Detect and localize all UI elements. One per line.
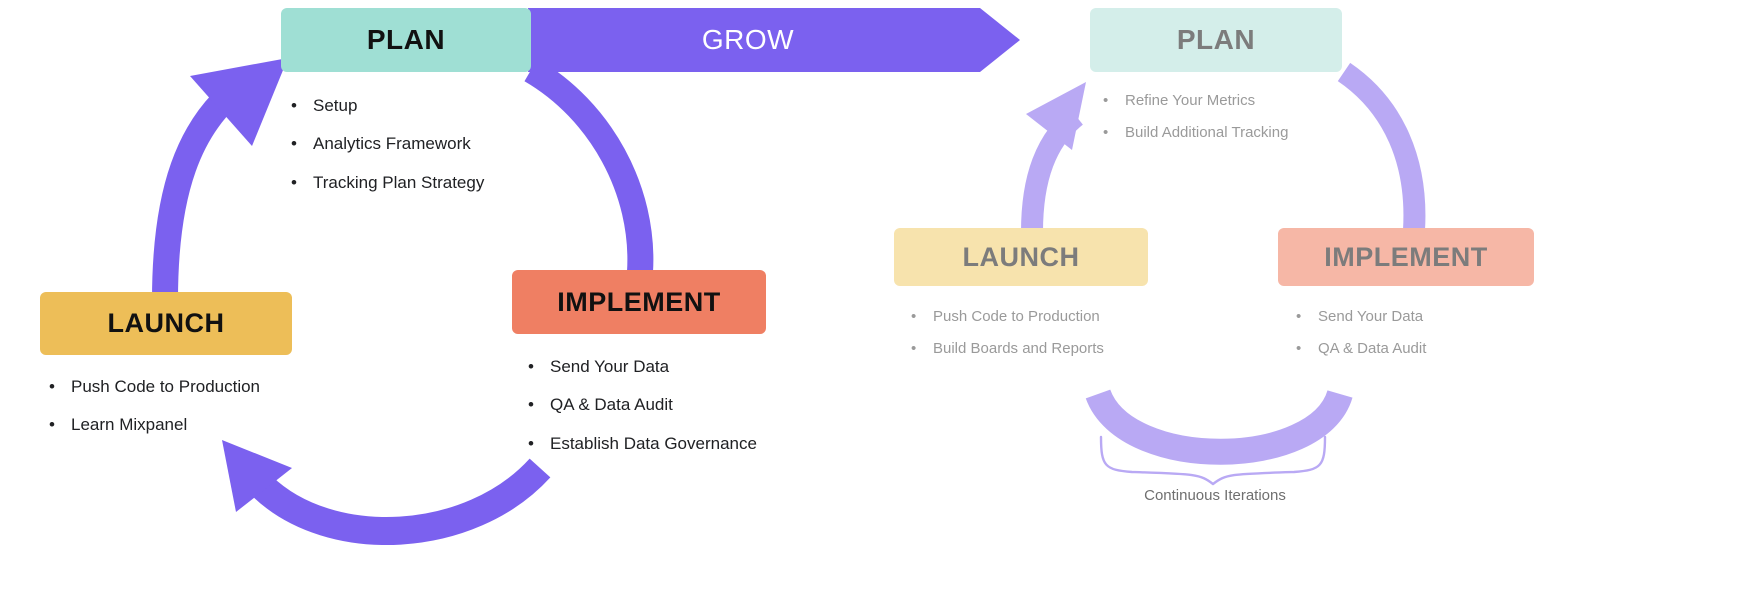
continuous-iterations-brace bbox=[1101, 437, 1325, 484]
bullet-label: Setup bbox=[313, 96, 357, 116]
bullet-icon: • bbox=[291, 96, 313, 116]
bullet-label: QA & Data Audit bbox=[1318, 340, 1426, 358]
bullet-label: Push Code to Production bbox=[71, 377, 260, 397]
bullet-icon: • bbox=[528, 434, 550, 454]
phase-card-implement-faded: IMPLEMENT • Send Your Data • QA & Data A… bbox=[1278, 228, 1534, 372]
phase-card-launch-faded: LAUNCH • Push Code to Production • Build… bbox=[894, 228, 1148, 372]
phase-title-plan-active: PLAN bbox=[281, 8, 531, 72]
bullet-label: Learn Mixpanel bbox=[71, 415, 187, 435]
arrow-launch-to-plan bbox=[165, 58, 288, 300]
bullet-icon: • bbox=[528, 395, 550, 415]
phase-bullets-plan-faded: • Refine Your Metrics • Build Additional… bbox=[1090, 92, 1342, 142]
bullet-icon: • bbox=[1103, 92, 1125, 110]
bullet-icon: • bbox=[291, 134, 313, 154]
arrow-plan-to-implement-faded bbox=[1344, 72, 1414, 230]
grow-label: GROW bbox=[528, 8, 968, 72]
phase-card-plan-active: PLAN • Setup • Analytics Framework • Tra… bbox=[281, 8, 531, 211]
bullet-icon: • bbox=[1296, 340, 1318, 358]
bullet-icon: • bbox=[911, 308, 933, 326]
bullet-label: Analytics Framework bbox=[313, 134, 471, 154]
bullet-label: Send Your Data bbox=[550, 357, 669, 377]
list-item: • Tracking Plan Strategy bbox=[291, 173, 531, 193]
phase-card-implement-active: IMPLEMENT • Send Your Data • QA & Data A… bbox=[512, 270, 766, 472]
list-item: • Establish Data Governance bbox=[528, 434, 766, 454]
bullet-icon: • bbox=[291, 173, 313, 193]
arrow-launch-to-plan-faded bbox=[1026, 82, 1086, 232]
bullet-label: Send Your Data bbox=[1318, 308, 1423, 326]
bullet-label: Establish Data Governance bbox=[550, 434, 757, 454]
bullet-label: Tracking Plan Strategy bbox=[313, 173, 484, 193]
bullet-icon: • bbox=[49, 415, 71, 435]
lifecycle-diagram: GROW PLAN • Setup • Analytics Framework … bbox=[0, 0, 1740, 589]
continuous-iterations-label: Continuous Iterations bbox=[1085, 487, 1345, 504]
phase-bullets-launch-faded: • Push Code to Production • Build Boards… bbox=[894, 308, 1148, 358]
phase-title-implement-faded: IMPLEMENT bbox=[1278, 228, 1534, 286]
list-item: • Push Code to Production bbox=[911, 308, 1148, 326]
grow-banner: GROW bbox=[528, 8, 1020, 72]
bullet-icon: • bbox=[528, 357, 550, 377]
phase-title-plan-faded: PLAN bbox=[1090, 8, 1342, 72]
phase-title-launch-faded: LAUNCH bbox=[894, 228, 1148, 286]
bullet-icon: • bbox=[1103, 124, 1125, 142]
list-item: • Send Your Data bbox=[528, 357, 766, 377]
bullet-icon: • bbox=[1296, 308, 1318, 326]
list-item: • Setup bbox=[291, 96, 531, 116]
bullet-label: Build Boards and Reports bbox=[933, 340, 1104, 358]
phase-bullets-implement-faded: • Send Your Data • QA & Data Audit bbox=[1278, 308, 1534, 358]
phase-title-implement-active: IMPLEMENT bbox=[512, 270, 766, 334]
bullet-label: Build Additional Tracking bbox=[1125, 124, 1288, 142]
list-item: • Push Code to Production bbox=[49, 377, 292, 397]
list-item: • Send Your Data bbox=[1296, 308, 1534, 326]
list-item: • Learn Mixpanel bbox=[49, 415, 292, 435]
list-item: • Build Boards and Reports bbox=[911, 340, 1148, 358]
arrow-plan-to-implement bbox=[531, 70, 640, 272]
bullet-icon: • bbox=[49, 377, 71, 397]
bullet-icon: • bbox=[911, 340, 933, 358]
bullet-label: Push Code to Production bbox=[933, 308, 1100, 326]
phase-card-plan-faded: PLAN • Refine Your Metrics • Build Addit… bbox=[1090, 8, 1342, 156]
list-item: • Refine Your Metrics bbox=[1103, 92, 1342, 110]
phase-bullets-implement-active: • Send Your Data • QA & Data Audit • Est… bbox=[512, 357, 766, 454]
list-item: • Build Additional Tracking bbox=[1103, 124, 1342, 142]
list-item: • QA & Data Audit bbox=[528, 395, 766, 415]
phase-title-launch-active: LAUNCH bbox=[40, 292, 292, 355]
phase-bullets-launch-active: • Push Code to Production • Learn Mixpan… bbox=[40, 377, 292, 436]
list-item: • QA & Data Audit bbox=[1296, 340, 1534, 358]
arrow-implement-to-launch-faded bbox=[1098, 394, 1340, 452]
phase-bullets-plan-active: • Setup • Analytics Framework • Tracking… bbox=[281, 96, 531, 193]
phase-card-launch-active: LAUNCH • Push Code to Production • Learn… bbox=[40, 292, 292, 454]
bullet-label: Refine Your Metrics bbox=[1125, 92, 1255, 110]
bullet-label: QA & Data Audit bbox=[550, 395, 673, 415]
list-item: • Analytics Framework bbox=[291, 134, 531, 154]
